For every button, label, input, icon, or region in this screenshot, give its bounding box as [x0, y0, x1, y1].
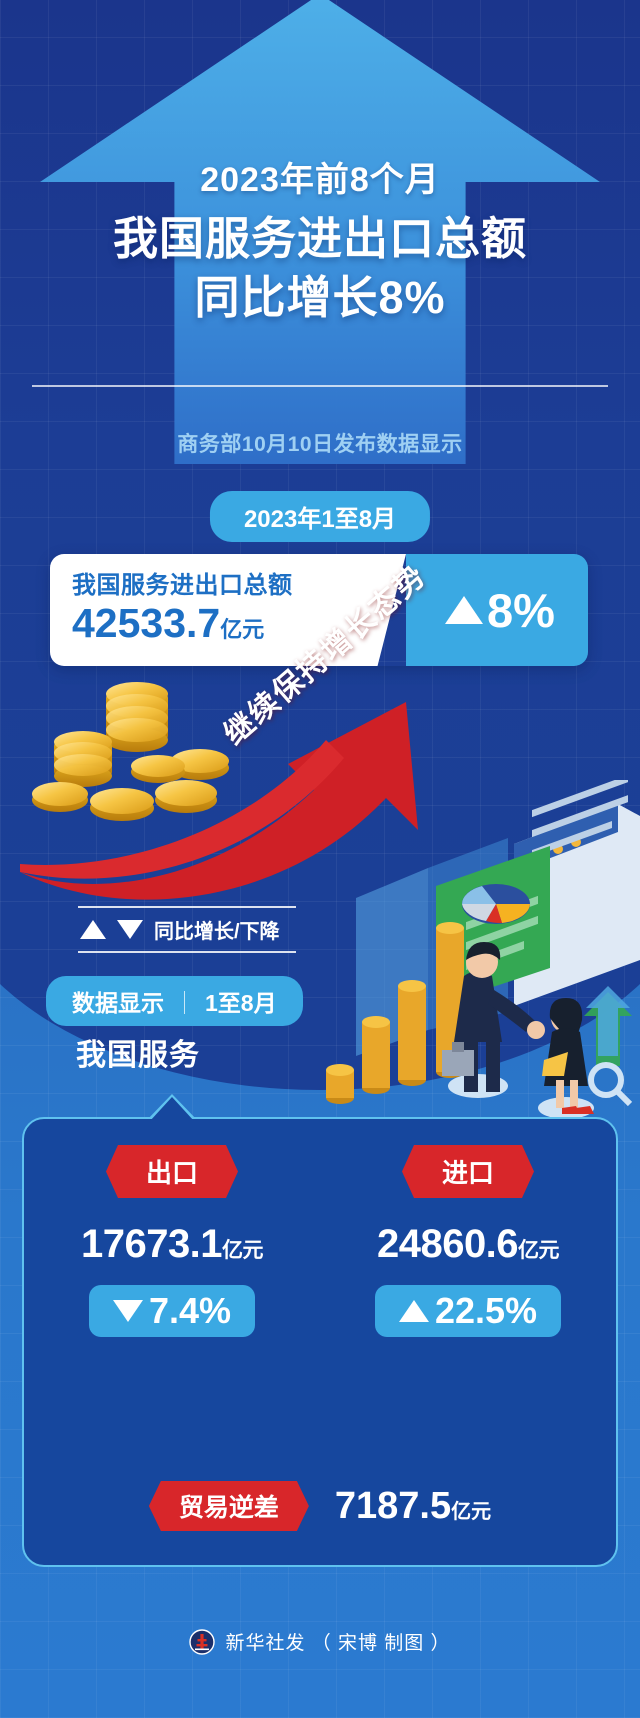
total-growth-badge: 8%	[406, 554, 588, 666]
import-badge: 进口	[402, 1145, 534, 1198]
xinhua-logo-icon	[189, 1629, 215, 1655]
footer: 新华社发 （ 宋博 制图 ）	[0, 1628, 640, 1655]
total-value-number: 42533.7	[72, 600, 220, 646]
deficit-value: 7187.5亿元	[335, 1485, 491, 1528]
source-line: 商务部10月10日发布数据显示	[0, 428, 640, 458]
legend: 同比增长/下降	[78, 898, 308, 961]
footer-credit: 新华社发 （ 宋博 制图 ）	[225, 1628, 450, 1655]
data-shows-period: 1至8月	[205, 990, 277, 1016]
trade-deficit-row: 贸易逆差 7187.5亿元	[24, 1481, 616, 1531]
business-analytics-illustration	[318, 780, 640, 1120]
import-value: 24860.6亿元	[377, 1222, 559, 1267]
headline-kicker: 2023年前8个月	[0, 152, 640, 201]
legend-rule-bottom	[78, 951, 296, 953]
import-change-value: 22.5%	[435, 1290, 537, 1332]
trade-data-panel: 出口 17673.1亿元 7.4% 进口 24860.6亿元 22.5% 贸易逆…	[22, 1117, 618, 1567]
headline-title-line2: 同比增长8%	[0, 268, 640, 327]
export-value-unit: 亿元	[222, 1239, 263, 1262]
infographic-page: 2023年前8个月 我国服务进出口总额 同比增长8% 商务部10月10日发布数据…	[0, 0, 640, 1718]
export-badge: 出口	[106, 1145, 238, 1198]
total-value-unit: 亿元	[220, 617, 264, 642]
deficit-badge: 贸易逆差	[149, 1481, 309, 1531]
triangle-down-icon	[117, 920, 143, 939]
import-value-unit: 亿元	[518, 1239, 559, 1262]
triangle-up-icon	[80, 920, 106, 939]
period-badge: 2023年1至8月	[210, 491, 430, 542]
deficit-value-number: 7187.5	[335, 1485, 451, 1527]
legend-label: 同比增长/下降	[154, 915, 280, 944]
import-value-number: 24860.6	[377, 1222, 518, 1266]
deficit-value-unit: 亿元	[451, 1501, 491, 1523]
triangle-up-icon	[399, 1300, 429, 1322]
data-shows-label: 数据显示	[72, 990, 164, 1016]
triangle-up-icon	[445, 596, 483, 624]
total-growth-value: 8%	[487, 583, 555, 638]
export-value-number: 17673.1	[81, 1222, 222, 1266]
export-change-pill: 7.4%	[89, 1285, 255, 1337]
headline-title-line1: 我国服务进出口总额	[0, 209, 640, 268]
divider-rule	[32, 385, 608, 387]
export-value: 17673.1亿元	[81, 1222, 263, 1267]
data-shows-separator: ｜	[173, 990, 196, 1016]
import-change-pill: 22.5%	[375, 1285, 561, 1337]
gold-coins-icon	[30, 672, 260, 832]
export-change-value: 7.4%	[149, 1290, 231, 1332]
category-title: 我国服务	[76, 1030, 200, 1074]
data-shows-badge: 数据显示｜1至8月	[46, 976, 303, 1026]
triangle-down-icon	[113, 1300, 143, 1322]
headline-block: 2023年前8个月 我国服务进出口总额 同比增长8%	[0, 152, 640, 328]
